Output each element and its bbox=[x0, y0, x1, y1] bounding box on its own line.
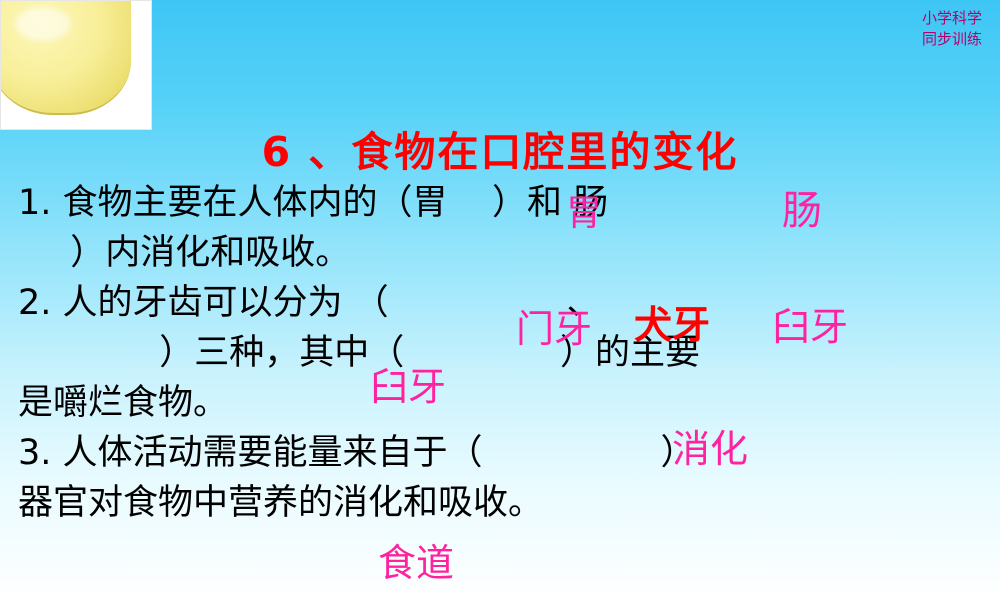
question-line-2: ）内消化和吸收。 bbox=[18, 228, 990, 278]
decorative-image bbox=[0, 0, 152, 130]
brand-watermark: 小学科学 同步训练 bbox=[922, 8, 982, 50]
answer-menya: 门牙 bbox=[516, 298, 592, 353]
answer-shidao: 食道 bbox=[378, 532, 454, 587]
highlight-glare bbox=[15, 7, 71, 41]
answer-jiuya-2: 臼牙 bbox=[370, 356, 446, 411]
question-body: 1. 食物主要在人体内的（胃 ）和 肠 ）内消化和吸收。 2. 人的牙齿可以分为… bbox=[18, 178, 990, 528]
answer-jiuya-1: 臼牙 bbox=[772, 296, 848, 351]
answer-quanya: 犬牙 bbox=[634, 294, 710, 349]
question-line-1: 1. 食物主要在人体内的（胃 ）和 肠 bbox=[18, 178, 990, 228]
question-line-6: 3. 人体活动需要能量来自于（ ） bbox=[18, 428, 990, 478]
question-line-5: 是嚼烂食物。 bbox=[18, 378, 990, 428]
brand-line-1: 小学科学 bbox=[922, 8, 982, 29]
page-title: 6 、食物在口腔里的变化 bbox=[0, 118, 1000, 178]
answer-xiaohua: 消化 bbox=[672, 418, 748, 473]
brand-line-2: 同步训练 bbox=[922, 29, 982, 50]
answer-chang: 肠 bbox=[782, 178, 822, 236]
answer-wei: 胃 bbox=[566, 184, 602, 236]
slide-canvas: 小学科学 同步训练 6 、食物在口腔里的变化 1. 食物主要在人体内的（胃 ）和… bbox=[0, 0, 1000, 600]
question-line-7: 器官对食物中营养的消化和吸收。 bbox=[18, 478, 990, 528]
